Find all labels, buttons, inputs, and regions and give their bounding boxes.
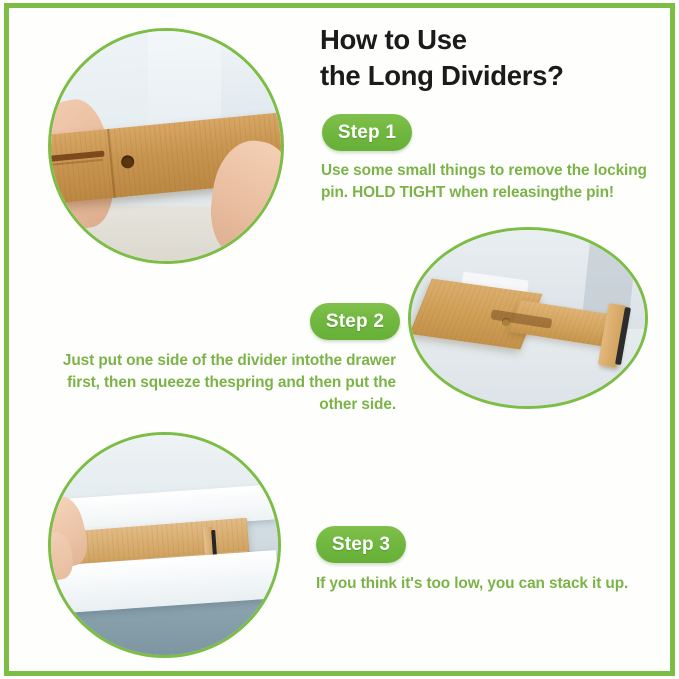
- photo-hands-holding-divider-locking-pin: [48, 28, 284, 264]
- photo-2-scene: [411, 230, 645, 406]
- photo-1-divider-slot: [48, 150, 105, 162]
- photo-1-divider-seam: [107, 129, 116, 198]
- step-3-badge-label: Step 3: [332, 534, 390, 556]
- photo-3-scene: [51, 435, 278, 655]
- step-3-description: If you think it's too low, you can stack…: [316, 573, 646, 595]
- step-1-description: Use some small things to remove the lock…: [321, 160, 669, 204]
- step-1-badge: Step 1: [322, 114, 412, 151]
- photo-stacked-dividers-in-open-drawer: [48, 432, 281, 658]
- step-1-badge-label: Step 1: [338, 122, 396, 144]
- infographic-page: How to Use the Long Dividers? Step 1 Use…: [0, 0, 679, 679]
- page-title: How to Use the Long Dividers?: [320, 22, 660, 94]
- photo-divider-extended-in-drawer-corner: [408, 227, 648, 409]
- step-2-description: Just put one side of the divider intothe…: [55, 350, 396, 416]
- page-title-line-1: How to Use: [320, 24, 467, 55]
- page-title-line-2: the Long Dividers?: [320, 58, 660, 94]
- step-3-badge: Step 3: [316, 526, 406, 563]
- photo-1-locking-pin-hole: [121, 154, 135, 168]
- photo-1-scene: [51, 31, 281, 261]
- step-2-badge: Step 2: [310, 303, 400, 340]
- step-2-badge-label: Step 2: [326, 311, 384, 333]
